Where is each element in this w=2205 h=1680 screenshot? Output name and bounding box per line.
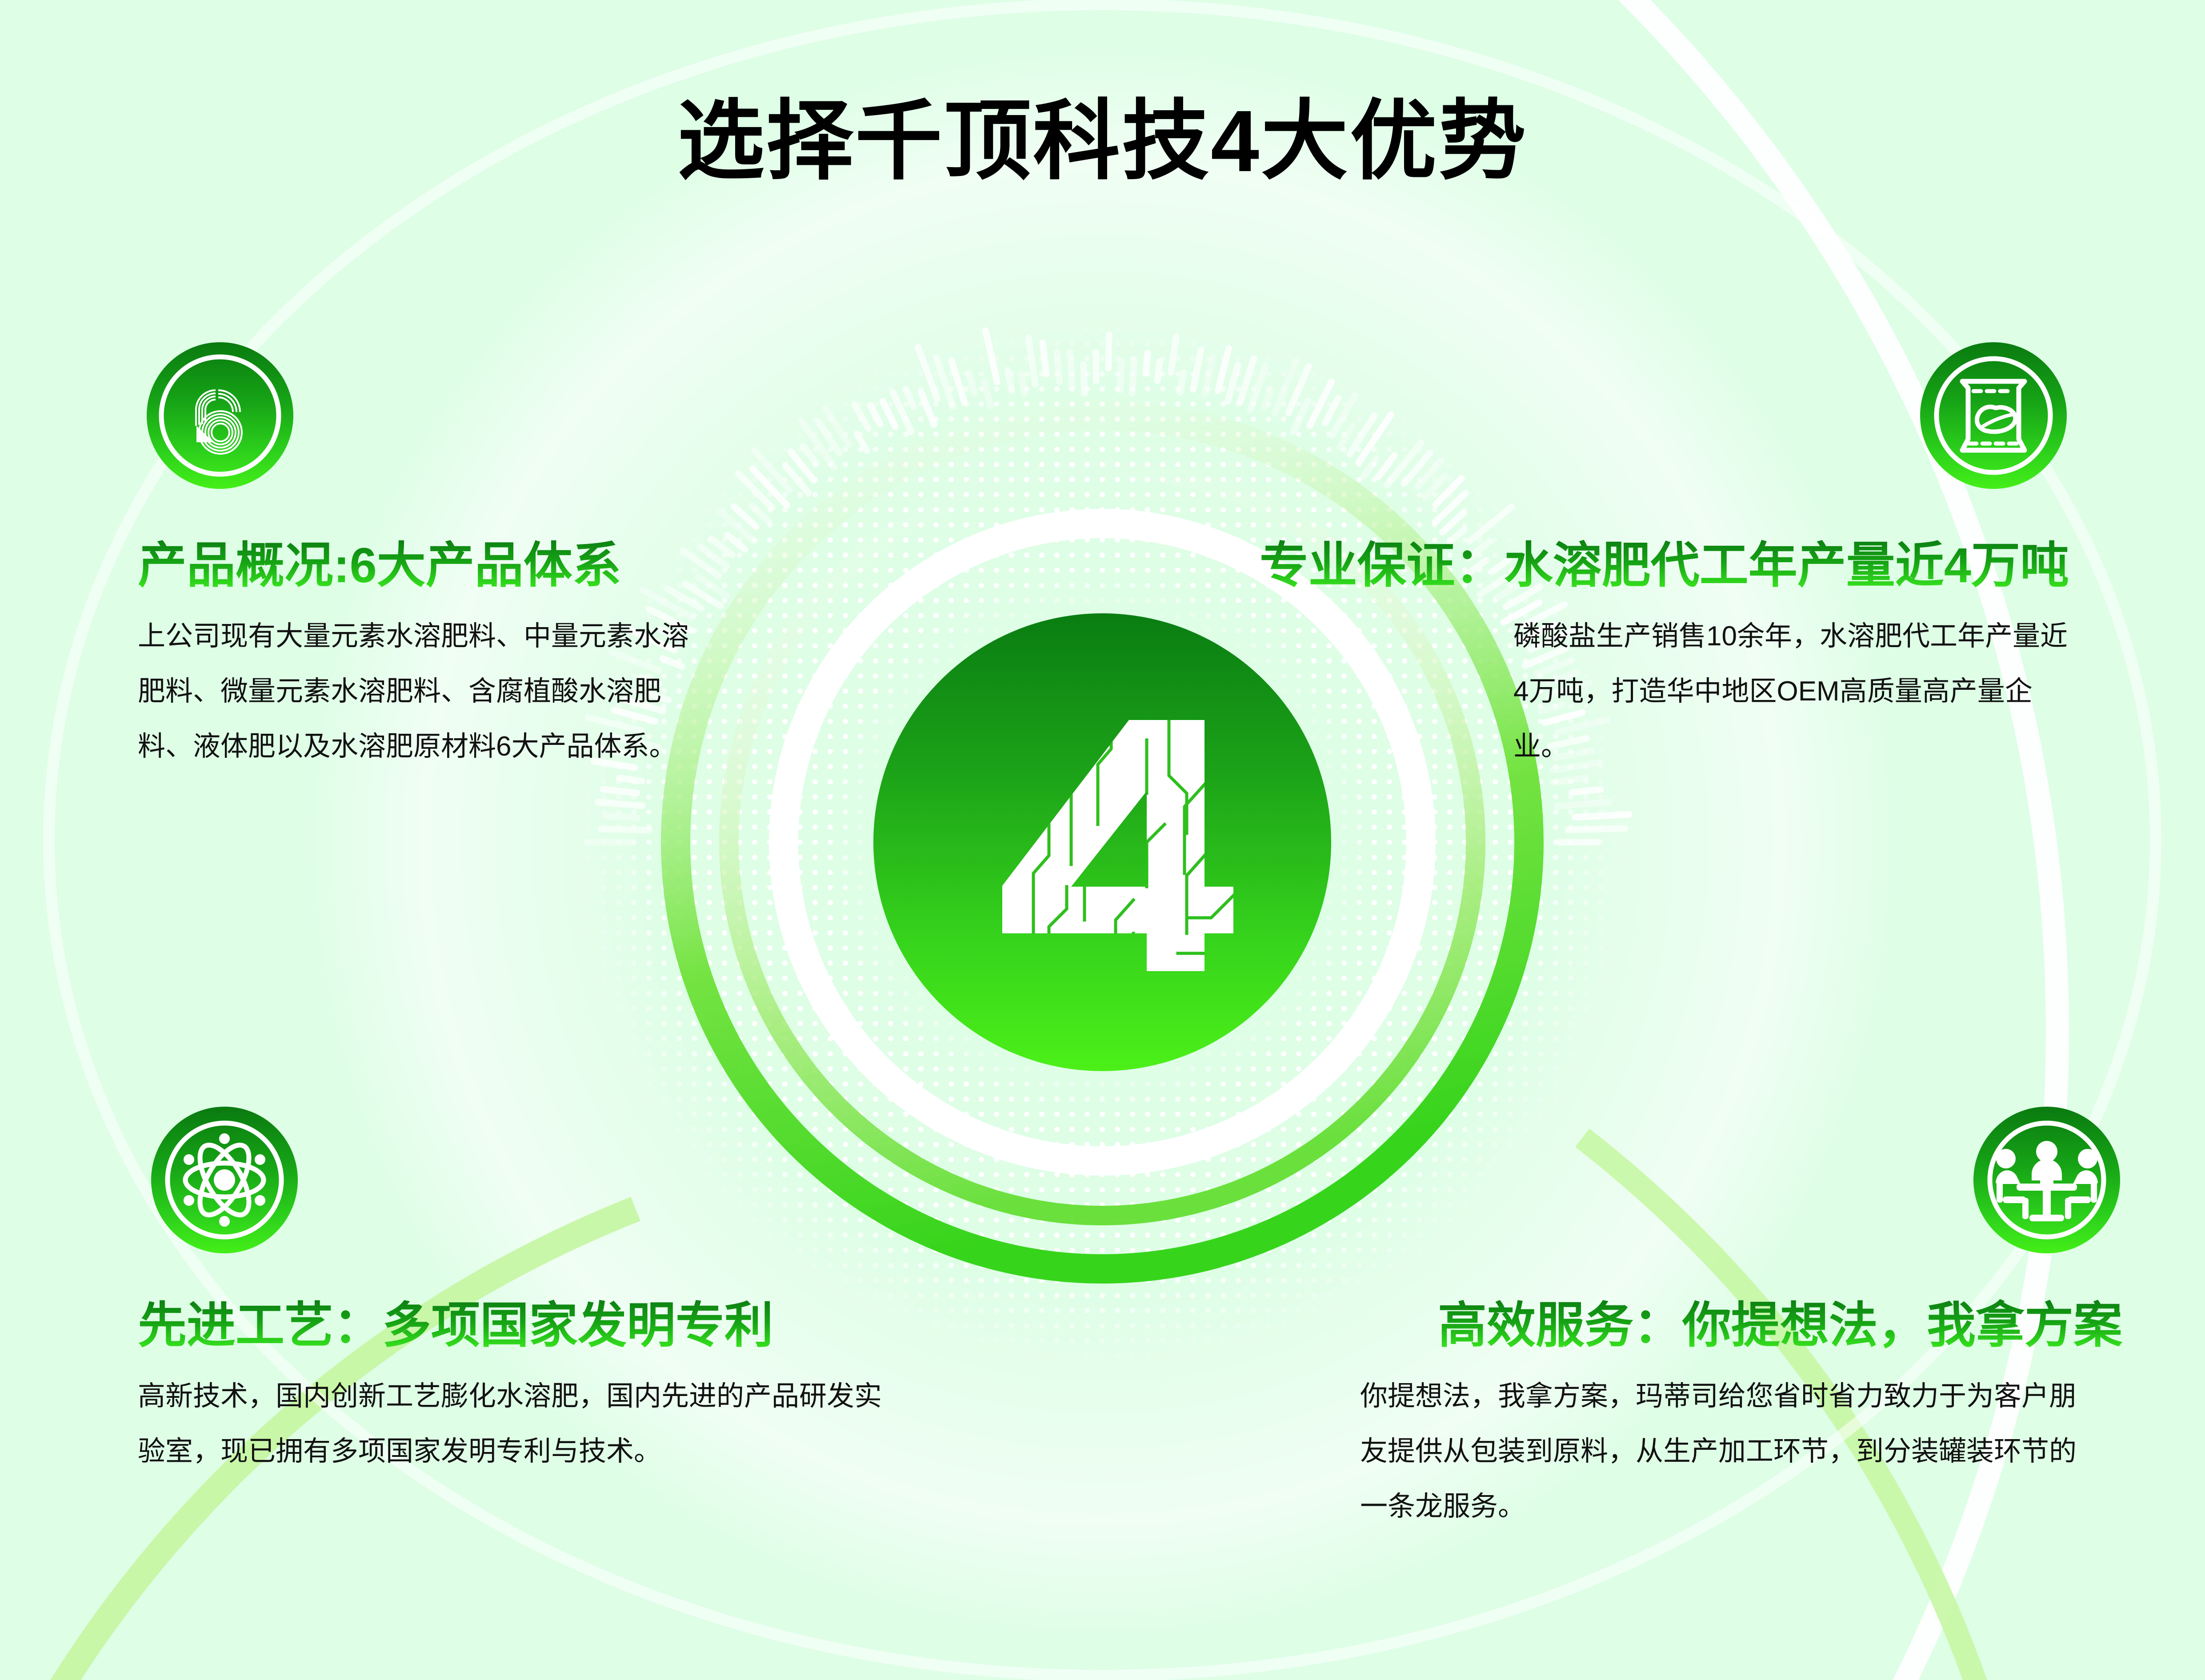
feature-body: 上公司现有大量元素水溶肥料、中量元素水溶肥料、微量元素水溶肥料、含腐植酸水溶肥料… (138, 609, 702, 774)
atom-icon (151, 1107, 298, 1253)
feature-heading: 专业保证：水溶肥代工年产量近4万吨 (1260, 538, 2069, 594)
circuit-number-4-icon (938, 678, 1267, 1007)
feature-heading: 产品概况:6大产品体系 (138, 538, 621, 594)
feature-body: 高新技术，国内创新工艺膨化水溶肥，国内先进的产品研发实验室，现已拥有多项国家发明… (138, 1369, 902, 1479)
core-circle (873, 613, 1331, 1071)
feature-body: 磷酸盐生产销售10余年，水溶肥代工年产量近4万吨，打造华中地区OEM高质量高产量… (1513, 609, 2069, 774)
feature-heading: 高效服务：你提想法，我拿方案 (1438, 1298, 2122, 1354)
central-emblem (569, 309, 1636, 1376)
feature-body: 你提想法，我拿方案，玛蒂司给您省时省力致力于为客户朋友提供从包装到原料，从生产加… (1360, 1369, 2080, 1534)
number-six-rings-icon (147, 342, 293, 489)
feature-heading: 先进工艺：多项国家发明专利 (138, 1298, 773, 1354)
fertilizer-bag-icon (1920, 342, 2067, 489)
poster-canvas: 选择千顶科技4大优势 (0, 0, 2205, 1680)
page-title: 选择千顶科技4大优势 (0, 93, 2205, 189)
meeting-team-icon (1973, 1107, 2120, 1253)
